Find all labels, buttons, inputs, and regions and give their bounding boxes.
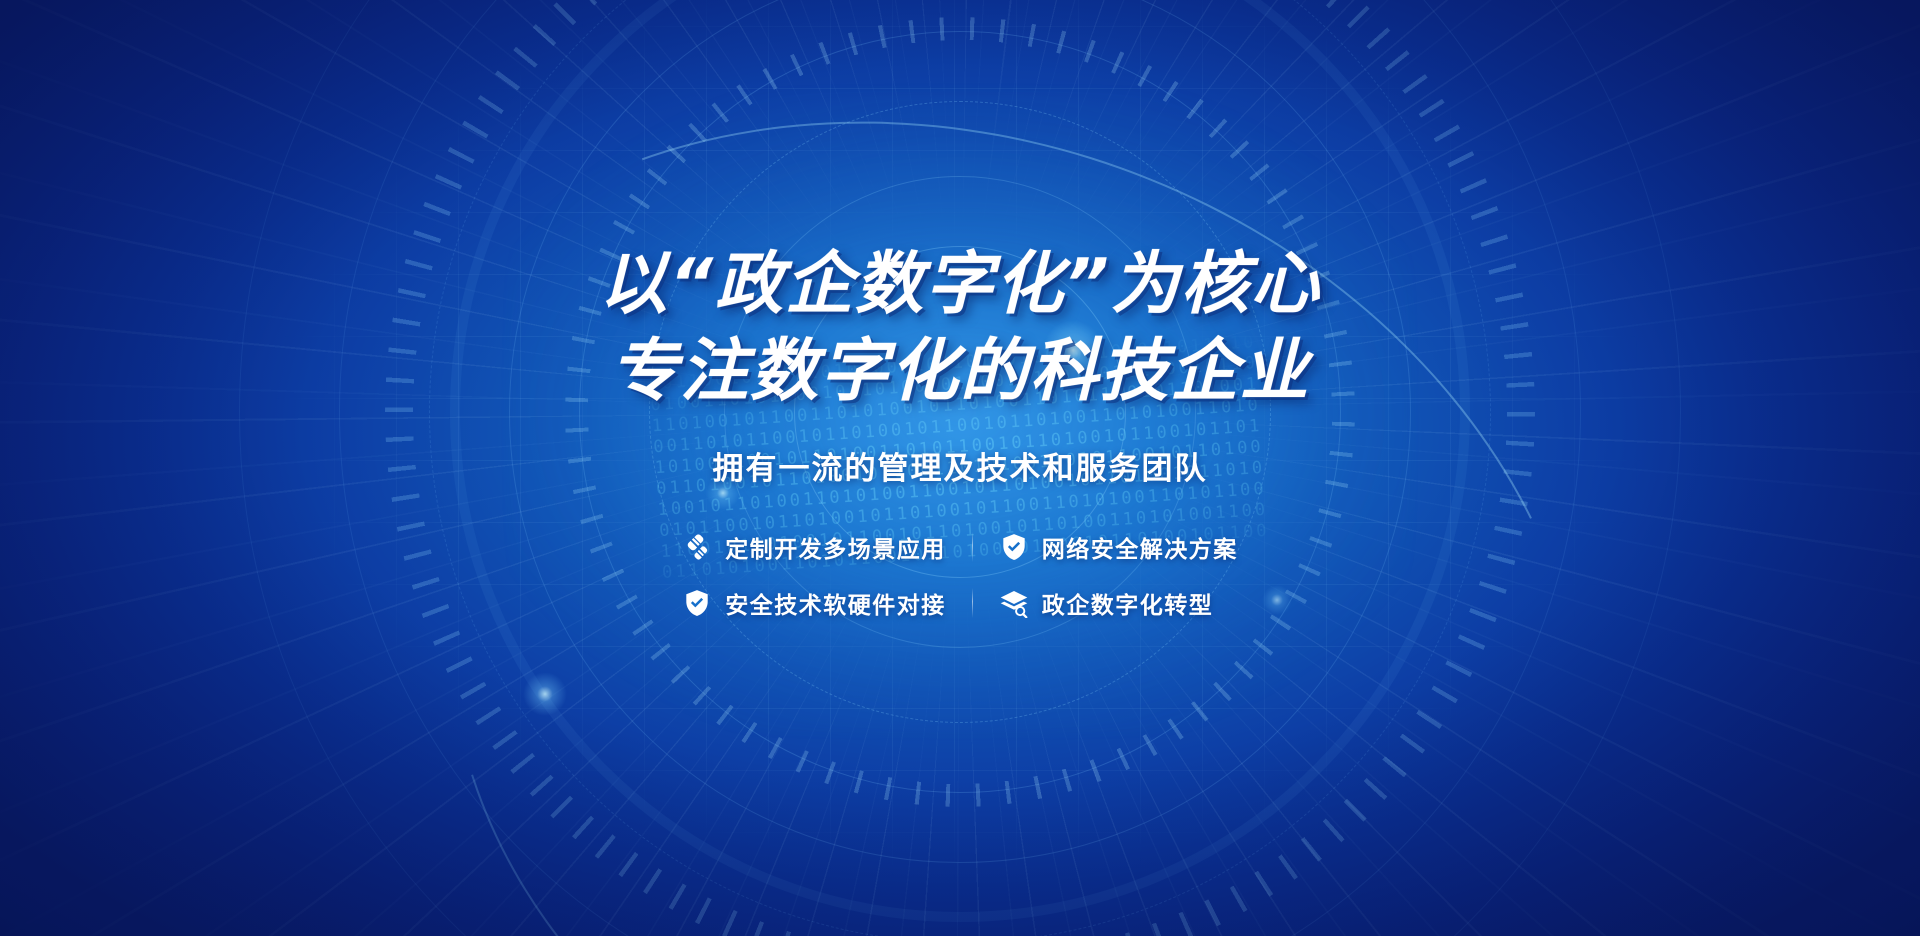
layers-stack-icon [999, 588, 1029, 618]
feature-label: 定制开发多场景应用 [725, 530, 946, 564]
headline-line-1: 以“政企数字化”为核心 [599, 248, 1321, 321]
subtitle: 拥有一流的管理及技术和服务团队 [713, 443, 1208, 488]
feature-list: 定制开发多场景应用 网络安全解决方案 [656, 526, 1264, 624]
headline: 以“政企数字化”为核心 专注数字化的科技企业 [599, 248, 1321, 409]
banner-content: 以“政企数字化”为核心 专注数字化的科技企业 拥有一流的管理及技术和服务团队 定… [0, 0, 1920, 936]
feature-label: 安全技术软硬件对接 [725, 586, 946, 620]
feature-item-digital-transformation[interactable]: 政企数字化转型 [973, 582, 1264, 624]
feature-item-security-integration[interactable]: 安全技术软硬件对接 [656, 582, 972, 624]
feature-label: 政企数字化转型 [1042, 586, 1214, 620]
feature-label: 网络安全解决方案 [1042, 530, 1238, 564]
shield-check-icon [999, 532, 1029, 562]
headline-line-2: 专注数字化的科技企业 [599, 335, 1321, 408]
hero-banner: 1011001010011010100110010110100101101001… [0, 0, 1920, 936]
puzzle-plugin-icon [682, 532, 712, 562]
feature-item-custom-development[interactable]: 定制开发多场景应用 [656, 526, 972, 568]
feature-item-network-security[interactable]: 网络安全解决方案 [973, 526, 1264, 568]
shield-check-icon [682, 588, 712, 618]
